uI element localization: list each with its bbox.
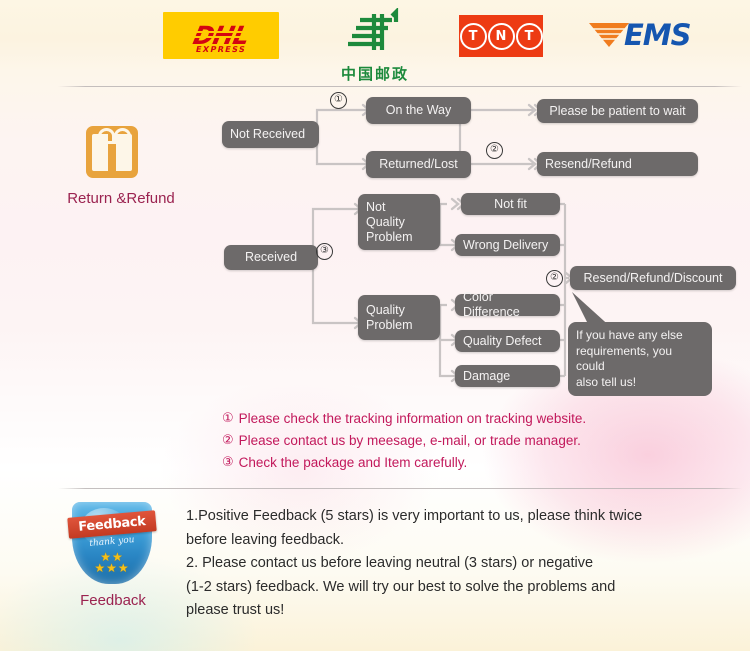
flow-node-quality-problem[interactable]: Quality Problem bbox=[358, 295, 440, 340]
dhl-logo: DHL EXPRESS bbox=[163, 12, 279, 59]
ems-triangle-icon bbox=[589, 20, 629, 50]
flow-marker-two-top: ② bbox=[486, 142, 503, 159]
gift-bow-left-icon bbox=[98, 128, 115, 144]
china-post-emblem-icon bbox=[330, 8, 420, 56]
flow-node-not-quality-problem[interactable]: Not Quality Problem bbox=[358, 194, 440, 250]
instruction-item-3: ③ Check the package and Item carefully. bbox=[222, 452, 586, 474]
flow-node-damage[interactable]: Damage bbox=[455, 365, 560, 387]
gift-icon bbox=[86, 126, 138, 178]
flow-node-received[interactable]: Received bbox=[224, 245, 318, 270]
flow-node-resend-refund[interactable]: Resend/Refund bbox=[537, 152, 698, 176]
ems-wordmark: EMS bbox=[624, 21, 691, 50]
divider-top bbox=[58, 86, 742, 87]
flow-node-returned-lost[interactable]: Returned/Lost bbox=[366, 151, 471, 178]
section-label-feedback: Feedback bbox=[48, 592, 178, 609]
instruction-text-2: Please contact us by meesage, e-mail, or… bbox=[239, 430, 581, 452]
instruction-text-1: Please check the tracking information on… bbox=[239, 408, 586, 430]
instruction-item-1: ① Please check the tracking information … bbox=[222, 408, 586, 430]
instruction-text-3: Check the package and Item carefully. bbox=[239, 452, 468, 474]
dhl-express-label: EXPRESS bbox=[195, 45, 247, 54]
flow-node-quality-defect[interactable]: Quality Defect bbox=[455, 330, 560, 352]
flow-marker-two-mid: ② bbox=[546, 270, 563, 287]
china-post-label: 中国邮政 bbox=[330, 63, 420, 84]
flow-node-on-the-way[interactable]: On the Way bbox=[366, 97, 471, 124]
feedback-policy-text: 1.Positive Feedback (5 stars) is very im… bbox=[186, 505, 726, 623]
flow-node-wrong-delivery[interactable]: Wrong Delivery bbox=[455, 234, 560, 256]
ems-logo: EMS bbox=[589, 20, 691, 50]
flow-marker-three: ③ bbox=[316, 243, 333, 260]
instruction-number-1: ① bbox=[222, 408, 234, 430]
flow-node-color-difference[interactable]: Color Difference bbox=[455, 294, 560, 316]
flow-node-not-received[interactable]: Not Received bbox=[222, 121, 319, 148]
tnt-letter-t1: T bbox=[460, 23, 487, 50]
instruction-item-2: ② Please contact us by meesage, e-mail, … bbox=[222, 430, 586, 452]
tnt-letter-n: N bbox=[488, 23, 515, 50]
dhl-logo-box: DHL EXPRESS bbox=[163, 12, 279, 59]
gift-bow-right-icon bbox=[114, 128, 131, 144]
bubble-tail-icon bbox=[562, 286, 632, 336]
page-root: DHL EXPRESS 中国邮政 T N T bbox=[0, 0, 750, 651]
tnt-logo-box: T N T bbox=[459, 15, 543, 57]
instruction-number-2: ② bbox=[222, 430, 234, 452]
instructions-list: ① Please check the tracking information … bbox=[222, 408, 586, 474]
stars-bottom: ★★★ bbox=[82, 563, 142, 574]
star-rating-icon: ★★ ★★★ bbox=[82, 552, 142, 574]
tnt-letter-t2: T bbox=[516, 23, 543, 50]
flow-node-not-fit[interactable]: Not fit bbox=[461, 193, 560, 215]
divider-bottom bbox=[58, 488, 742, 489]
flow-marker-one: ① bbox=[330, 92, 347, 109]
china-post-logo: 中国邮政 bbox=[330, 8, 420, 84]
section-label-return-refund: Return &Refund bbox=[56, 190, 186, 207]
flow-node-please-be-patient[interactable]: Please be patient to wait bbox=[537, 99, 698, 123]
tnt-logo: T N T bbox=[459, 15, 543, 57]
instruction-number-3: ③ bbox=[222, 452, 234, 474]
feedback-badge-icon: Feedback thank you ★★ ★★★ bbox=[72, 502, 152, 584]
